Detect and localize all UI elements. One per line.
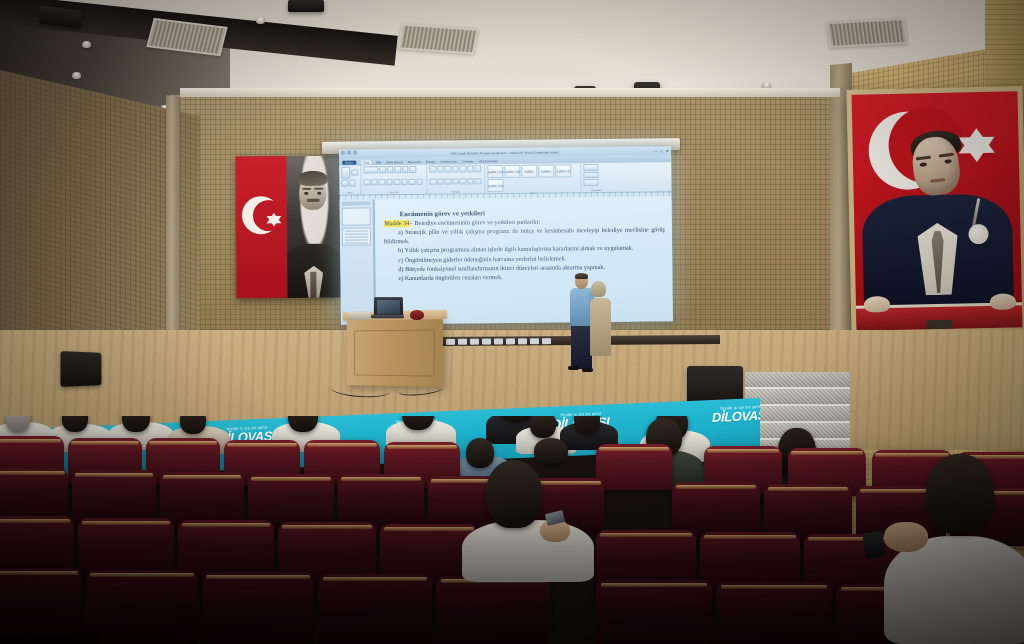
numbering-icon[interactable] xyxy=(437,166,444,173)
line-spacing-icon[interactable] xyxy=(459,178,466,185)
pano-buttons[interactable] xyxy=(341,167,358,187)
laptop-keyboard[interactable] xyxy=(371,315,405,318)
align-right-icon[interactable] xyxy=(444,178,451,185)
presenter-shoe xyxy=(582,368,593,372)
attendee-head xyxy=(534,438,568,464)
seat[interactable] xyxy=(596,444,672,490)
paragraph-text: – Belediye encümeninin görev ve yetkiler… xyxy=(410,219,541,227)
grow-font-icon[interactable] xyxy=(387,166,394,173)
undo-icon[interactable] xyxy=(347,151,351,155)
attendee-shoulders-foreground xyxy=(884,536,1024,644)
ceiling-spotlight xyxy=(82,41,91,48)
attendee-hand xyxy=(884,522,928,552)
ribbon-group-duzenleme[interactable]: Düzenleme xyxy=(581,163,611,192)
style-baslik[interactable]: AaBbCcD xyxy=(555,164,571,177)
justify-icon[interactable] xyxy=(452,178,459,185)
ribbon-group-paragraf[interactable]: Paragraf xyxy=(427,164,485,194)
outlet xyxy=(446,338,455,344)
tab-sayfa-duzeni[interactable]: Sayfa Düzeni xyxy=(386,160,402,164)
ataturk-photograph xyxy=(286,156,340,298)
turkish-flag-and-ataturk-portrait xyxy=(236,156,341,299)
style-baslik-2[interactable]: AaBbCc xyxy=(538,164,554,177)
window-controls[interactable]: — □ ✕ xyxy=(653,148,669,153)
presenter-laptop[interactable] xyxy=(371,297,403,321)
attendee-body xyxy=(590,298,611,356)
wall-ceiling-trim xyxy=(180,88,840,97)
attendee-head xyxy=(466,438,494,468)
thumb-line xyxy=(345,230,368,232)
shading-icon[interactable] xyxy=(467,178,474,185)
portrait-hair xyxy=(298,171,328,186)
attendee-head xyxy=(530,416,556,438)
outlet xyxy=(470,338,479,344)
thumb-line xyxy=(345,233,368,235)
find-icon[interactable] xyxy=(583,164,598,171)
stage-monitor-speaker-left xyxy=(60,351,101,387)
italic-icon[interactable] xyxy=(371,179,378,186)
style-normal[interactable]: AaBbCcDd xyxy=(487,165,503,178)
wooden-lectern xyxy=(347,317,443,387)
tab-gorunum[interactable]: Görünüm xyxy=(462,159,474,163)
font-row-1[interactable] xyxy=(363,166,424,173)
seat[interactable] xyxy=(436,576,550,644)
minimize-icon[interactable]: — xyxy=(653,148,657,153)
seat[interactable] xyxy=(716,582,832,644)
copy-icon[interactable] xyxy=(341,180,348,187)
subscript-icon[interactable] xyxy=(393,179,400,186)
format-painter-icon[interactable] xyxy=(349,180,356,187)
replace-icon[interactable] xyxy=(583,172,598,179)
document-heading: Encümenin görev ve yetkileri xyxy=(400,208,665,218)
portrait-brow-left xyxy=(303,188,312,190)
seat[interactable] xyxy=(0,568,82,644)
audience-seating xyxy=(0,416,1024,644)
ribbon-group-stiller[interactable]: AaBbCcDd AaBbCcDd AaBbC AaBbCc AaBbCcD A… xyxy=(485,163,581,193)
redo-icon[interactable] xyxy=(353,151,357,155)
bold-icon[interactable] xyxy=(363,179,370,186)
close-icon[interactable]: ✕ xyxy=(666,148,669,153)
portrait-brow-right xyxy=(315,188,324,190)
attendee-headscarf xyxy=(591,281,606,297)
painting-hand-right xyxy=(990,293,1016,310)
highlighted-marker: Madde 34 xyxy=(384,220,410,227)
style-gallery[interactable]: AaBbCcDd AaBbCcDd AaBbC AaBbCc AaBbCcD A… xyxy=(487,164,578,192)
hvac-vent xyxy=(826,18,908,48)
painting-eye-left xyxy=(920,162,927,166)
show-marks-icon[interactable] xyxy=(474,165,481,172)
tab-gozden-gecir[interactable]: Gözden Geçir xyxy=(440,159,457,163)
save-icon[interactable] xyxy=(341,151,345,155)
presenter-shoe xyxy=(568,366,579,370)
hvac-vent xyxy=(398,24,479,55)
outlet xyxy=(458,338,467,344)
thumb-line xyxy=(345,239,368,241)
quick-access-toolbar[interactable] xyxy=(341,151,357,155)
superscript-icon[interactable] xyxy=(401,179,408,186)
lectern-front-panel xyxy=(354,329,434,376)
ribbon-group-yazi-tipi[interactable]: Yazı Tipi xyxy=(361,165,427,195)
paragraph-row-2[interactable] xyxy=(429,178,482,185)
cut-icon[interactable] xyxy=(351,169,358,176)
decrease-indent-icon[interactable] xyxy=(452,165,459,172)
navigation-thumbnail[interactable] xyxy=(342,227,371,245)
portrait-eye-left xyxy=(305,192,309,195)
outlet xyxy=(518,338,527,344)
multilevel-list-icon[interactable] xyxy=(444,166,451,173)
lectern-microphone xyxy=(410,310,424,320)
paragraph-row-1[interactable] xyxy=(429,165,482,172)
outlet xyxy=(542,338,551,344)
tab-giris[interactable]: Giriş xyxy=(361,160,371,164)
increase-indent-icon[interactable] xyxy=(459,165,466,172)
ataturk-painting-canvas xyxy=(852,91,1023,330)
attendee-shoulders-foreground xyxy=(462,520,594,582)
ribbon[interactable]: Pano xyxy=(339,162,671,195)
font-row-2[interactable] xyxy=(363,178,424,185)
portrait-moustache xyxy=(307,199,320,202)
seat[interactable] xyxy=(86,570,198,644)
star-icon xyxy=(267,213,282,224)
maximize-icon[interactable]: □ xyxy=(660,148,662,153)
clear-formatting-icon[interactable] xyxy=(409,166,416,173)
portrait-eye-right xyxy=(318,192,322,195)
thumb-line xyxy=(345,236,368,238)
stage-step xyxy=(745,389,850,406)
attendee-wristwatch xyxy=(862,531,885,560)
tab-eba[interactable]: eBA Yazılımları xyxy=(479,159,498,163)
select-icon[interactable] xyxy=(583,179,598,186)
document-paragraph-a: a) Stratejik plân ve yıllık çalışma prog… xyxy=(384,227,665,247)
underline-icon[interactable] xyxy=(378,179,385,186)
turkish-flag xyxy=(236,156,288,298)
outlet xyxy=(506,338,515,344)
change-case-icon[interactable] xyxy=(402,166,409,173)
painting-eye-right xyxy=(944,159,951,163)
tab-basvurular[interactable]: Başvurular xyxy=(408,159,421,163)
font-size-combo[interactable] xyxy=(379,166,386,173)
painting-brow-right xyxy=(939,153,954,158)
painting-brow-left xyxy=(916,156,931,161)
bullets-icon[interactable] xyxy=(429,166,436,173)
ceiling-mount-box xyxy=(288,0,324,12)
attendee-head-foreground xyxy=(926,454,994,534)
window-title: 5393 sayılı Belediye Kanunu metni.docx -… xyxy=(451,150,559,155)
painting-hand-left xyxy=(864,296,890,313)
outlet xyxy=(530,338,539,344)
lectern-papers xyxy=(348,312,370,320)
thumb-line xyxy=(345,242,368,244)
attendee-at-screen xyxy=(588,276,614,358)
presenter-hair xyxy=(575,273,588,279)
navigation-search-box[interactable] xyxy=(342,207,371,225)
star-icon xyxy=(958,128,995,154)
font-color-icon[interactable] xyxy=(416,178,423,185)
seat[interactable] xyxy=(202,572,314,644)
tab-ekle[interactable]: Ekle xyxy=(376,160,382,164)
stage-step xyxy=(745,372,850,389)
ataturk-painting-frame xyxy=(846,86,1024,336)
laptop-screen[interactable] xyxy=(377,300,400,314)
editing-buttons[interactable] xyxy=(583,164,609,186)
ceiling-spotlight xyxy=(256,17,265,24)
document-paragraph-e: e) Kanunlarda öngörülen cezaları vermek. xyxy=(384,273,665,284)
seat[interactable] xyxy=(318,574,432,644)
style-alt-baslik[interactable]: AaBbCcDd xyxy=(487,179,503,192)
strikethrough-icon[interactable] xyxy=(386,179,393,186)
tab-dosya[interactable]: Dosya xyxy=(342,160,356,164)
document-page[interactable]: Encümenin görev ve yetkileri Madde 34– B… xyxy=(374,196,673,324)
borders-icon[interactable] xyxy=(474,178,481,185)
outlet xyxy=(494,338,503,344)
style-aralik-yok[interactable]: AaBbCcDd xyxy=(504,165,520,178)
outlet xyxy=(482,338,491,344)
style-baslik-1[interactable]: AaBbC xyxy=(521,165,537,178)
attendee-head-foreground xyxy=(486,460,542,528)
navigation-pane-header xyxy=(342,201,371,205)
seat[interactable] xyxy=(596,580,712,644)
sort-icon[interactable] xyxy=(467,165,474,172)
conference-hall-photo: 5393 sayılı Belediye Kanunu metni.docx -… xyxy=(0,0,1024,644)
ribbon-group-pano[interactable]: Pano xyxy=(339,166,361,195)
painting-mouth xyxy=(930,178,945,182)
paste-icon[interactable] xyxy=(341,167,350,179)
tab-postalar[interactable]: Postalar xyxy=(426,159,436,163)
shrink-font-icon[interactable] xyxy=(394,166,401,173)
portrait-tie xyxy=(311,272,317,298)
text-highlight-icon[interactable] xyxy=(408,178,415,185)
align-left-icon[interactable] xyxy=(429,178,436,185)
ceiling-spotlight xyxy=(72,72,81,79)
navigation-pane[interactable] xyxy=(340,199,375,324)
align-center-icon[interactable] xyxy=(437,178,444,185)
font-name-combo[interactable] xyxy=(363,166,378,173)
